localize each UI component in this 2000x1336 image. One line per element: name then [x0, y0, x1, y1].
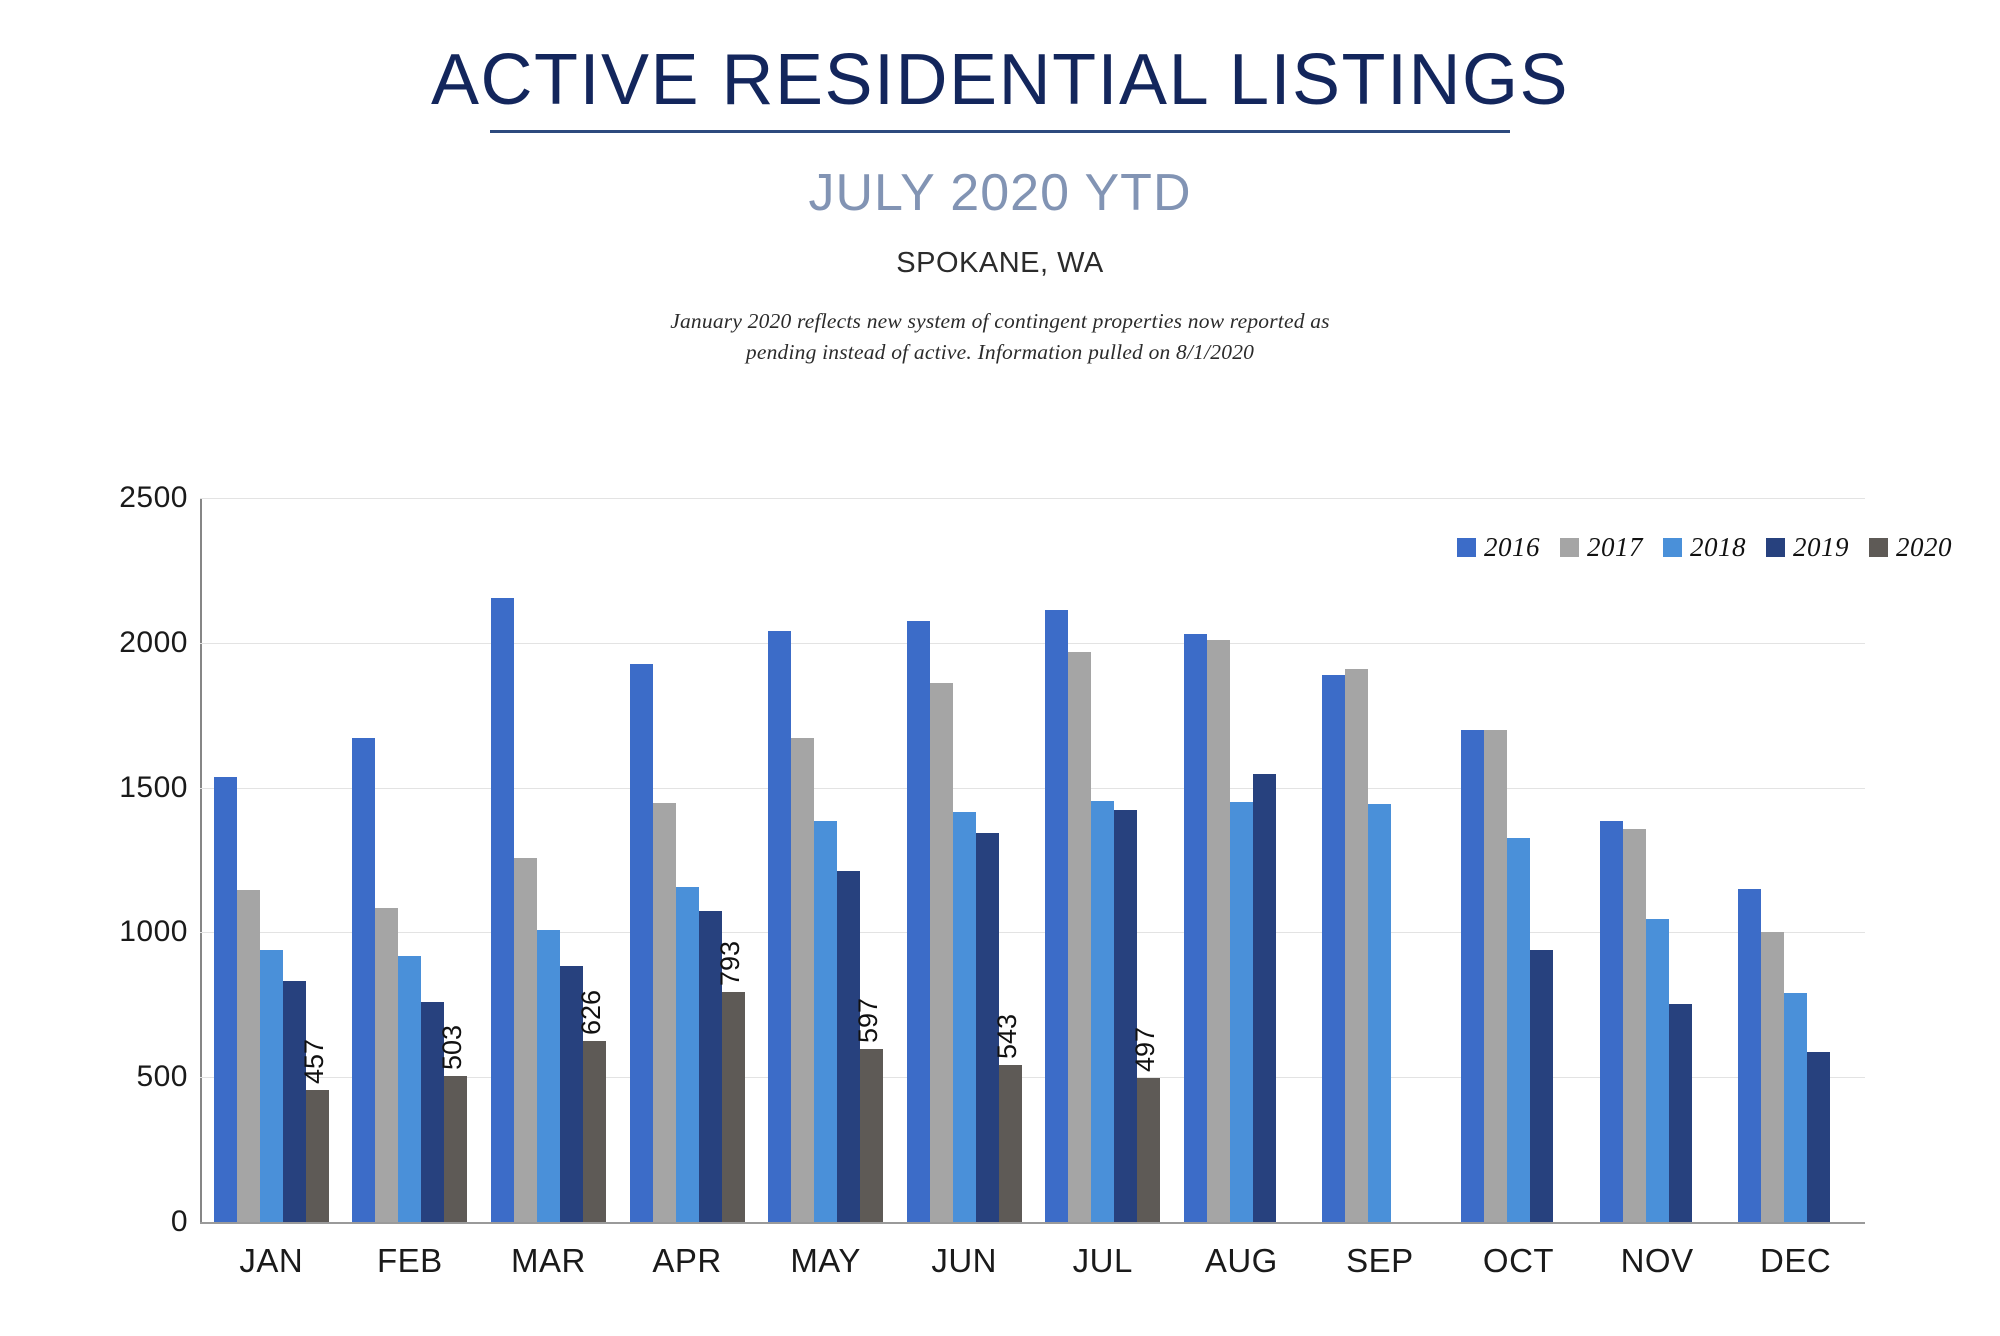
bar-fill	[1600, 821, 1623, 1222]
location-label: SPOKANE, WA	[0, 247, 2000, 280]
page-subtitle: JULY 2020 YTD	[0, 167, 2000, 219]
chart-page: ACTIVE RESIDENTIAL LISTINGS JULY 2020 YT…	[0, 0, 2000, 1336]
x-axis-label-aug: AUG	[1172, 1242, 1311, 1280]
legend-label: 2020	[1896, 532, 1952, 563]
bar-group-feb: 503	[341, 498, 480, 1222]
bar-fill	[214, 777, 237, 1222]
bar-fill	[514, 858, 537, 1222]
bar-fill	[1738, 889, 1761, 1222]
bar-fill	[1368, 804, 1391, 1222]
legend-item-2020[interactable]: 2020	[1869, 532, 1952, 563]
chart-legend: 20162017201820192020	[1457, 532, 1952, 563]
bar-fill	[930, 683, 953, 1222]
x-axis-label-jun: JUN	[895, 1242, 1034, 1280]
bar-group-jul: 497	[1033, 498, 1172, 1222]
legend-label: 2019	[1793, 532, 1849, 563]
y-axis-tick-label: 500	[28, 1060, 188, 1094]
bar-group-oct	[1449, 498, 1588, 1222]
x-axis-labels: JANFEBMARAPRMAYJUNJULAUGSEPOCTNOVDEC	[202, 1242, 1865, 1280]
bar-fill	[352, 738, 375, 1223]
bar-value-label: 793	[715, 941, 746, 986]
bar-fill	[1461, 730, 1484, 1222]
bar-fill	[653, 803, 676, 1222]
bar-fill	[398, 956, 421, 1222]
bar-value-label: 497	[1130, 1027, 1161, 1072]
bar-fill	[1807, 1052, 1830, 1222]
x-axis-label-mar: MAR	[479, 1242, 618, 1280]
bar-fill	[999, 1065, 1022, 1222]
title-underline	[490, 130, 1510, 133]
bar-fill	[237, 890, 260, 1222]
x-axis-label-jul: JUL	[1033, 1242, 1172, 1280]
y-axis-tick-label: 2000	[28, 626, 188, 660]
x-axis-label-sep: SEP	[1311, 1242, 1450, 1280]
bar-fill	[444, 1076, 467, 1222]
bar-chart: 25002000150010005000 4575036267935975434…	[0, 470, 2000, 1300]
bar-group-mar: 626	[479, 498, 618, 1222]
bar-fill	[1137, 1078, 1160, 1222]
bar-group-apr: 793	[618, 498, 757, 1222]
legend-label: 2016	[1484, 532, 1540, 563]
bar-group-aug	[1172, 498, 1311, 1222]
bar-value-label: 543	[992, 1014, 1023, 1059]
x-axis-label-oct: OCT	[1449, 1242, 1588, 1280]
bar-fill	[260, 950, 283, 1222]
legend-swatch-icon	[1869, 538, 1888, 557]
bar-fill	[537, 930, 560, 1222]
bar-fill	[1784, 993, 1807, 1222]
bar-value-label: 503	[437, 1025, 468, 1070]
bar-fill	[1114, 810, 1137, 1222]
bar-fill	[1207, 640, 1230, 1222]
bar-group-jan: 457	[202, 498, 341, 1222]
bar-fill	[1322, 675, 1345, 1222]
bar-fill	[791, 738, 814, 1223]
bar-fill	[1507, 838, 1530, 1222]
chart-header: ACTIVE RESIDENTIAL LISTINGS JULY 2020 YT…	[0, 0, 2000, 367]
x-axis-label-feb: FEB	[341, 1242, 480, 1280]
bar-fill	[1068, 652, 1091, 1223]
legend-label: 2018	[1690, 532, 1746, 563]
bar-fill	[630, 664, 653, 1222]
bar-fill	[583, 1041, 606, 1222]
legend-item-2019[interactable]: 2019	[1766, 532, 1849, 563]
bar-fill	[1530, 950, 1553, 1222]
bar-fill	[722, 992, 745, 1222]
bar-fill	[491, 598, 514, 1222]
bar-fill	[1091, 801, 1114, 1222]
bar-fill	[1184, 634, 1207, 1222]
x-axis-label-nov: NOV	[1588, 1242, 1727, 1280]
x-axis-label-jan: JAN	[202, 1242, 341, 1280]
bar-fill	[676, 887, 699, 1222]
x-axis-label-may: MAY	[756, 1242, 895, 1280]
bar-fill	[1669, 1004, 1692, 1222]
y-axis-tick-label: 0	[28, 1205, 188, 1239]
bar-fill	[814, 821, 837, 1222]
legend-item-2018[interactable]: 2018	[1663, 532, 1746, 563]
bar-fill	[837, 871, 860, 1222]
bar-fill	[907, 621, 930, 1222]
bar-group-dec	[1726, 498, 1865, 1222]
legend-label: 2017	[1587, 532, 1643, 563]
bar-group-nov	[1588, 498, 1727, 1222]
page-title: ACTIVE RESIDENTIAL LISTINGS	[0, 44, 2000, 116]
bar-fill	[306, 1090, 329, 1222]
y-axis-tick-label: 2500	[28, 481, 188, 515]
legend-swatch-icon	[1663, 538, 1682, 557]
bar-fill	[1761, 932, 1784, 1222]
footnote-line-2: pending instead of active. Information p…	[0, 337, 2000, 368]
bar-groups: 457503626793597543497	[202, 498, 1865, 1222]
bar-fill	[375, 908, 398, 1222]
bar-fill	[1623, 829, 1646, 1222]
bar-fill	[860, 1049, 883, 1222]
bar-value-label: 626	[576, 990, 607, 1035]
bar-fill	[1484, 730, 1507, 1222]
bar-fill	[283, 981, 306, 1222]
gridline	[200, 1222, 1865, 1223]
footnote: January 2020 reflects new system of cont…	[0, 306, 2000, 367]
bar-fill	[768, 631, 791, 1222]
bar-value-label: 597	[853, 998, 884, 1043]
bar-fill	[953, 812, 976, 1222]
legend-swatch-icon	[1766, 538, 1785, 557]
legend-item-2016[interactable]: 2016	[1457, 532, 1540, 563]
legend-swatch-icon	[1560, 538, 1579, 557]
y-axis-tick-label: 1500	[28, 771, 188, 805]
bar-fill	[1045, 610, 1068, 1222]
footnote-line-1: January 2020 reflects new system of cont…	[0, 306, 2000, 337]
bar-group-sep	[1311, 498, 1450, 1222]
bar-fill	[1345, 669, 1368, 1222]
bar-fill	[1253, 774, 1276, 1222]
y-axis-tick-label: 1000	[28, 915, 188, 949]
bar-group-may: 597	[756, 498, 895, 1222]
x-axis-label-dec: DEC	[1726, 1242, 1865, 1280]
legend-swatch-icon	[1457, 538, 1476, 557]
x-axis-label-apr: APR	[618, 1242, 757, 1280]
bar-fill	[1230, 802, 1253, 1222]
bar-group-jun: 543	[895, 498, 1034, 1222]
legend-item-2017[interactable]: 2017	[1560, 532, 1643, 563]
bar-fill	[1646, 919, 1669, 1223]
bar-value-label: 457	[299, 1039, 330, 1084]
